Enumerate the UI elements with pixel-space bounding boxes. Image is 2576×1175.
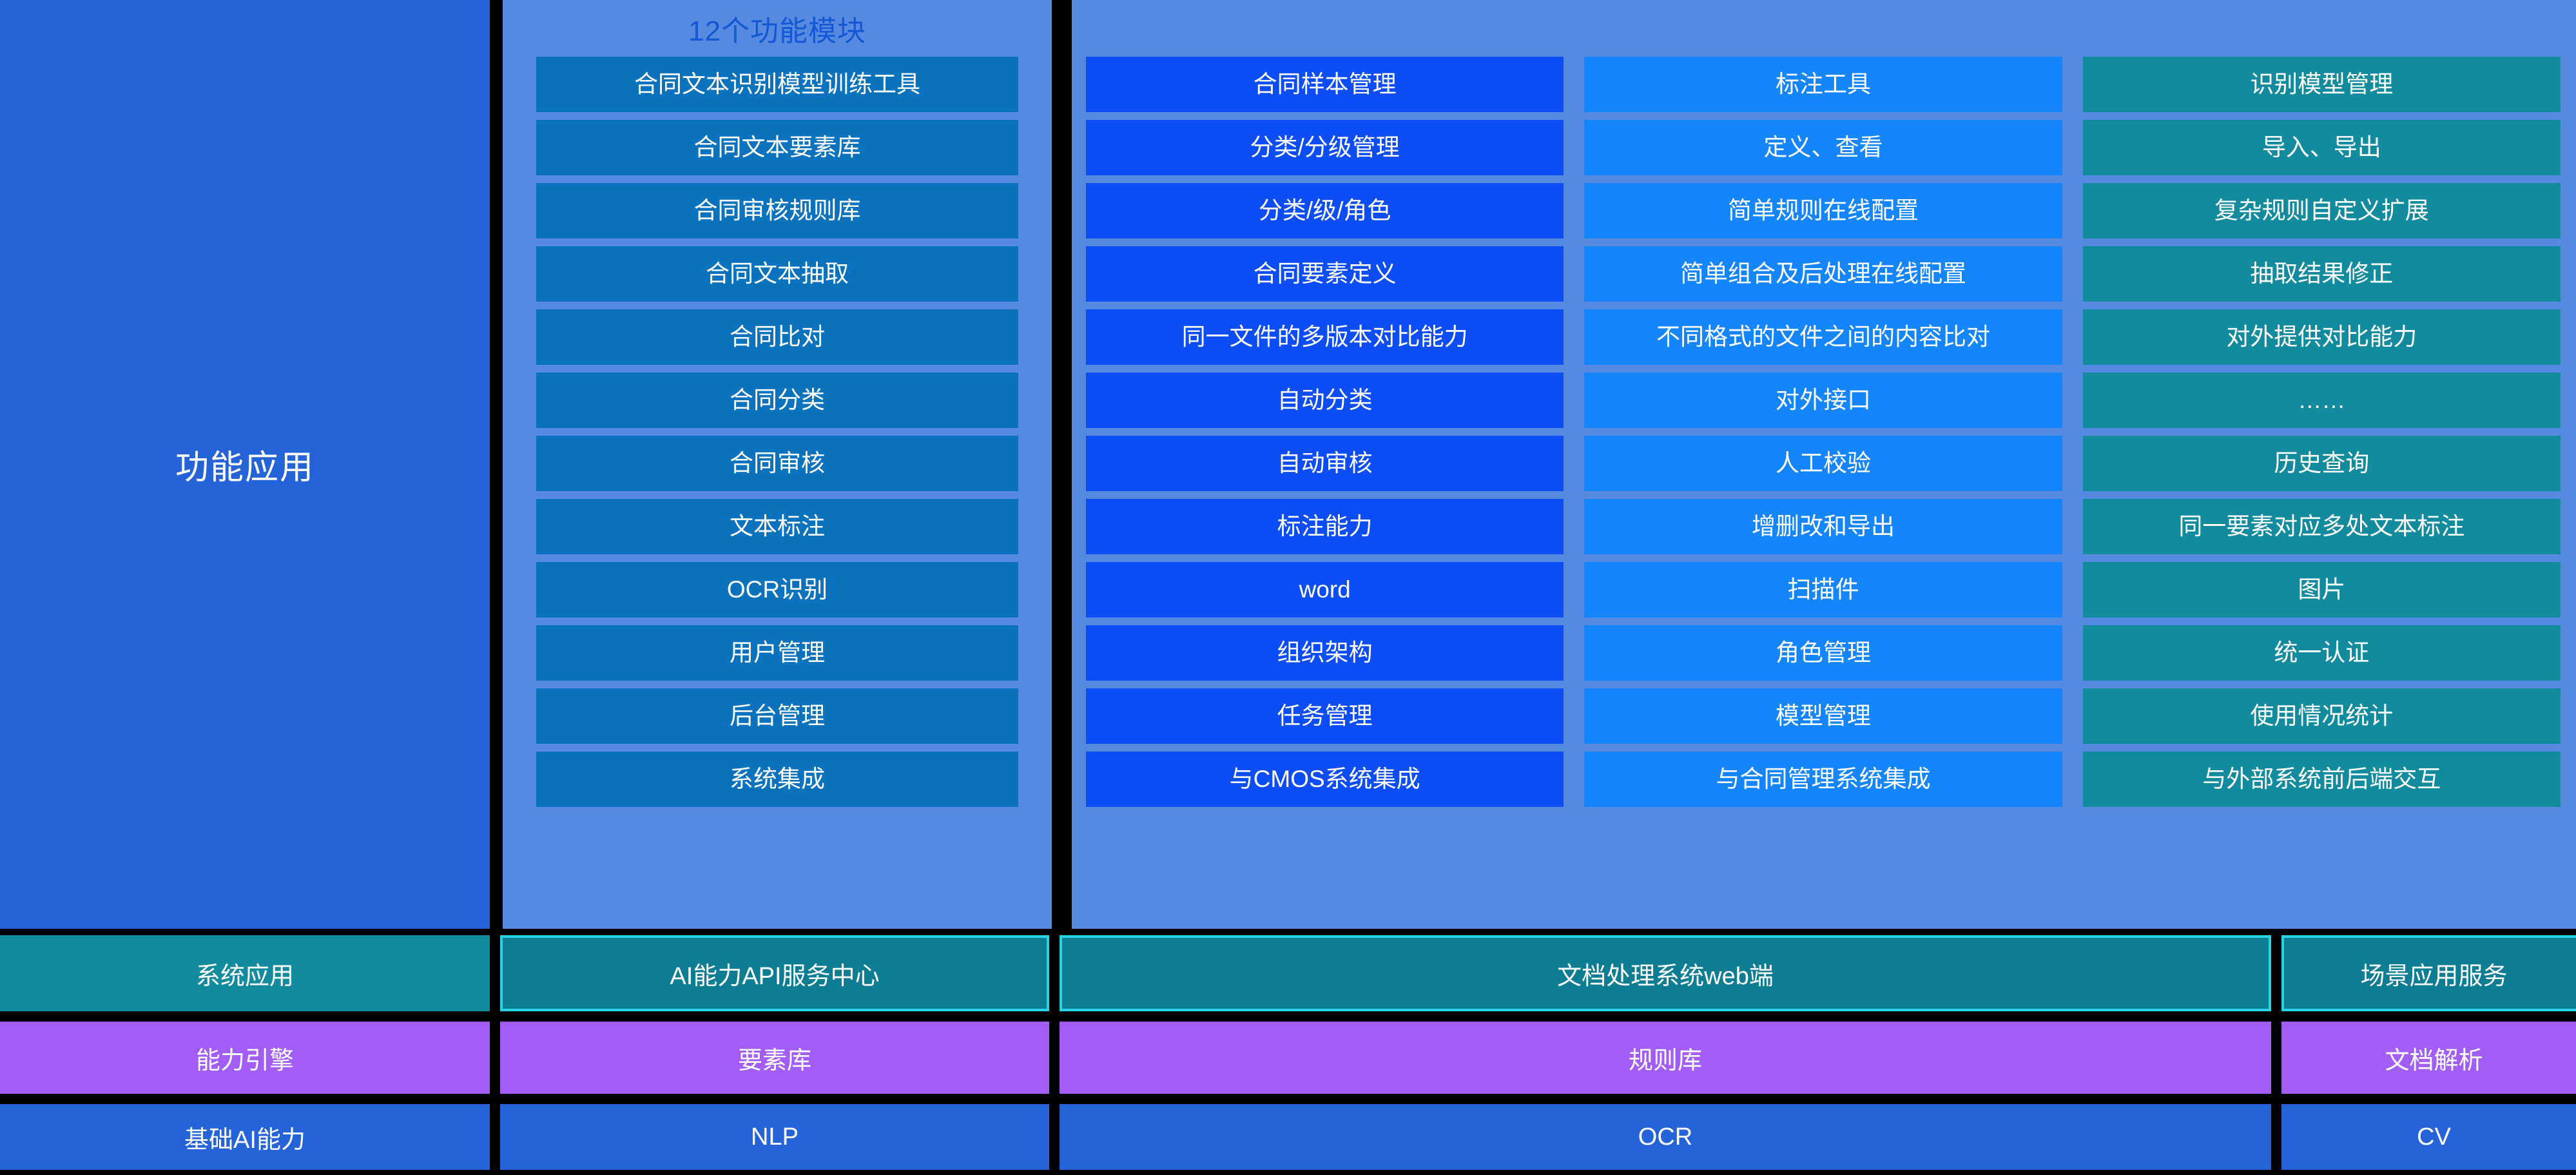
module-cell[interactable]: 合同审核规则库 xyxy=(536,183,1018,238)
feature-cell[interactable]: 人工校验 xyxy=(1584,436,2062,491)
base-cell-label: NLP xyxy=(751,1123,799,1151)
module-column-modules: 12个功能模块 合同文本识别模型训练工具 合同文本要素库 合同审核规则库 合同文… xyxy=(503,0,1052,929)
row-gap xyxy=(2271,935,2281,1011)
feature-cell[interactable]: 复杂规则自定义扩展 xyxy=(2083,183,2561,238)
feature-cell[interactable]: 合同要素定义 xyxy=(1086,246,1564,302)
feature-cell[interactable]: 简单组合及后处理在线配置 xyxy=(1584,246,2062,302)
feature-cell[interactable]: 与CMOS系统集成 xyxy=(1086,752,1564,807)
feature-cell[interactable]: 对外提供对比能力 xyxy=(2083,309,2561,365)
feature-cell[interactable]: 自动审核 xyxy=(1086,436,1564,491)
module-cell[interactable]: 合同分类 xyxy=(536,373,1018,428)
module-column-modules-list: 合同文本识别模型训练工具 合同文本要素库 合同审核规则库 合同文本抽取 合同比对… xyxy=(503,57,1052,807)
layer-label-text: 功能应用 xyxy=(175,440,315,489)
layer-label-functional-application: 功能应用 xyxy=(0,0,490,929)
module-cell[interactable]: 系统集成 xyxy=(536,752,1018,807)
module-cell[interactable]: 合同文本识别模型训练工具 xyxy=(536,57,1018,112)
base-cell-ocr[interactable]: OCR xyxy=(1060,1104,2271,1170)
row-gap xyxy=(2271,1022,2281,1094)
module-cell[interactable]: 合同比对 xyxy=(536,309,1018,365)
base-cell-nlp[interactable]: NLP xyxy=(500,1104,1049,1170)
layer-label-base-ai-capability: 基础AI能力 xyxy=(0,1104,490,1170)
row-system-application: 系统应用 AI能力API服务中心 文档处理系统web端 场景应用服务 xyxy=(0,935,2576,1011)
system-cell-api-center[interactable]: AI能力API服务中心 xyxy=(500,935,1049,1011)
row-base-ai-capability: 基础AI能力 NLP OCR CV xyxy=(0,1104,2576,1170)
architecture-diagram: 功能应用 12个功能模块 合同文本识别模型训练工具 合同文本要素库 合同审核规则… xyxy=(0,0,2576,1175)
base-cell-cv[interactable]: CV xyxy=(2281,1104,2576,1170)
layer-label-text: 系统应用 xyxy=(196,956,294,991)
system-cell-label: 文档处理系统web端 xyxy=(1557,956,1774,991)
feature-cell[interactable]: 简单规则在线配置 xyxy=(1584,183,2062,238)
feature-cell[interactable]: 同一要素对应多处文本标注 xyxy=(2083,499,2561,554)
feature-cell[interactable]: 角色管理 xyxy=(1584,625,2062,681)
feature-cell[interactable]: 识别模型管理 xyxy=(2083,57,2561,112)
column-divider xyxy=(1052,0,1072,929)
feature-cell[interactable]: 对外接口 xyxy=(1584,373,2062,428)
module-cell[interactable]: 合同文本要素库 xyxy=(536,120,1018,175)
engine-cell-label: 要素库 xyxy=(738,1040,811,1076)
feature-cell[interactable]: 任务管理 xyxy=(1086,688,1564,744)
layer-label-text: 基础AI能力 xyxy=(184,1120,305,1155)
row-gap xyxy=(1049,935,1060,1011)
feature-cell-ellipsis[interactable]: …… xyxy=(2083,373,2561,428)
functional-application-region: 功能应用 12个功能模块 合同文本识别模型训练工具 合同文本要素库 合同审核规则… xyxy=(0,0,2576,929)
feature-cell[interactable]: 自动分类 xyxy=(1086,373,1564,428)
feature-cell[interactable]: 分类/级/角色 xyxy=(1086,183,1564,238)
feature-cell[interactable]: 统一认证 xyxy=(2083,625,2561,681)
feature-cell[interactable]: 增删改和导出 xyxy=(1584,499,2062,554)
engine-cell-element-library[interactable]: 要素库 xyxy=(500,1022,1049,1094)
feature-cell[interactable]: 与合同管理系统集成 xyxy=(1584,752,2062,807)
layer-label-system-application: 系统应用 xyxy=(0,935,490,1011)
module-cell[interactable]: 合同文本抽取 xyxy=(536,246,1018,302)
row-gap xyxy=(490,935,500,1011)
module-cell[interactable]: 后台管理 xyxy=(536,688,1018,744)
feature-cell[interactable]: 使用情况统计 xyxy=(2083,688,2561,744)
row-gap xyxy=(2271,1104,2281,1170)
module-matrix: 12个功能模块 合同文本识别模型训练工具 合同文本要素库 合同审核规则库 合同文… xyxy=(503,0,2576,929)
system-cell-label: 场景应用服务 xyxy=(2360,956,2507,991)
feature-cell[interactable]: 扫描件 xyxy=(1584,562,2062,617)
system-cell-doc-web[interactable]: 文档处理系统web端 xyxy=(1060,935,2271,1011)
feature-cell[interactable]: 图片 xyxy=(2083,562,2561,617)
matrix-title: 12个功能模块 xyxy=(503,0,1052,57)
module-cell[interactable]: 合同审核 xyxy=(536,436,1018,491)
feature-cell[interactable]: 分类/分级管理 xyxy=(1086,120,1564,175)
engine-cell-rule-library[interactable]: 规则库 xyxy=(1060,1022,2271,1094)
feature-cell[interactable]: word xyxy=(1086,562,1564,617)
module-cell[interactable]: 文本标注 xyxy=(536,499,1018,554)
row-gap xyxy=(1049,1104,1060,1170)
feature-cell[interactable]: 与外部系统前后端交互 xyxy=(2083,752,2561,807)
engine-cell-label: 文档解析 xyxy=(2385,1040,2483,1076)
feature-cell[interactable]: 标注能力 xyxy=(1086,499,1564,554)
feature-column-c: 识别模型管理 导入、导出 复杂规则自定义扩展 抽取结果修正 对外提供对比能力 …… xyxy=(2073,0,2576,929)
feature-column-b: 标注工具 定义、查看 简单规则在线配置 简单组合及后处理在线配置 不同格式的文件… xyxy=(1574,0,2072,929)
module-cell[interactable]: 用户管理 xyxy=(536,625,1018,681)
system-cell-label: AI能力API服务中心 xyxy=(670,956,879,991)
feature-cell[interactable]: 导入、导出 xyxy=(2083,120,2561,175)
feature-cell[interactable]: 同一文件的多版本对比能力 xyxy=(1086,309,1564,365)
row-capability-engine: 能力引擎 要素库 规则库 文档解析 xyxy=(0,1022,2576,1094)
system-cell-scenario-service[interactable]: 场景应用服务 xyxy=(2281,935,2576,1011)
row-gap xyxy=(490,1022,500,1094)
row-gap xyxy=(1049,1022,1060,1094)
feature-columns: 合同样本管理 分类/分级管理 分类/级/角色 合同要素定义 同一文件的多版本对比… xyxy=(1072,0,2576,929)
base-cell-label: CV xyxy=(2417,1123,2451,1151)
layer-label-text: 能力引擎 xyxy=(196,1040,294,1076)
row-gap xyxy=(490,1104,500,1170)
feature-cell[interactable]: 合同样本管理 xyxy=(1086,57,1564,112)
feature-cell[interactable]: 定义、查看 xyxy=(1584,120,2062,175)
layer-label-capability-engine: 能力引擎 xyxy=(0,1022,490,1094)
module-cell[interactable]: OCR识别 xyxy=(536,562,1018,617)
feature-cell[interactable]: 不同格式的文件之间的内容比对 xyxy=(1584,309,2062,365)
feature-cell[interactable]: 抽取结果修正 xyxy=(2083,246,2561,302)
base-cell-label: OCR xyxy=(1638,1123,1692,1151)
feature-cell[interactable]: 标注工具 xyxy=(1584,57,2062,112)
engine-cell-document-parsing[interactable]: 文档解析 xyxy=(2281,1022,2576,1094)
feature-cell[interactable]: 模型管理 xyxy=(1584,688,2062,744)
feature-cell[interactable]: 组织架构 xyxy=(1086,625,1564,681)
feature-column-a: 合同样本管理 分类/分级管理 分类/级/角色 合同要素定义 同一文件的多版本对比… xyxy=(1072,0,1574,929)
engine-cell-label: 规则库 xyxy=(1629,1040,1702,1076)
feature-cell[interactable]: 历史查询 xyxy=(2083,436,2561,491)
